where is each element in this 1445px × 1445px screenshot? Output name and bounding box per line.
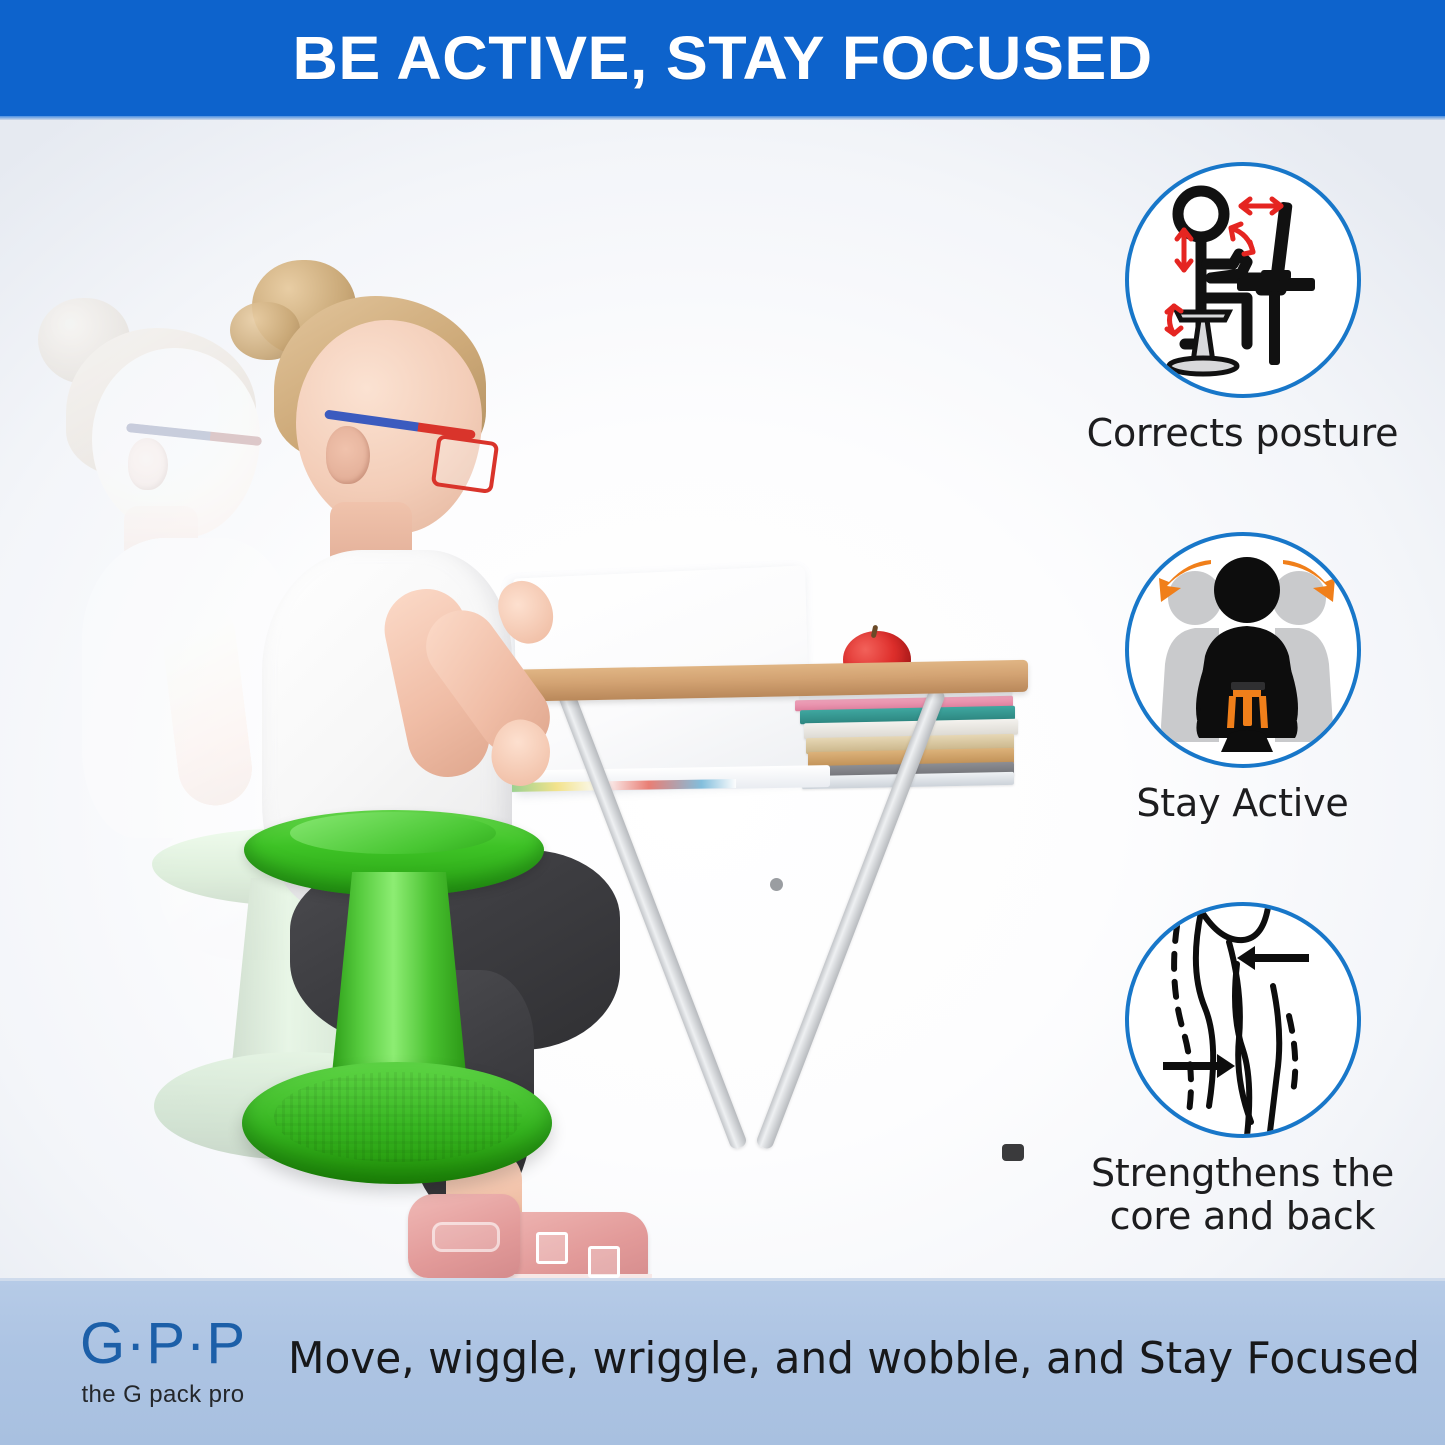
brand-logo: G·P·P the G pack pro xyxy=(48,1315,278,1409)
product-photo xyxy=(0,120,1060,1278)
infographic-page: BE ACTIVE, STAY FOCUSED xyxy=(0,0,1445,1445)
person-at-adjustable-desk-icon xyxy=(1125,162,1361,398)
spine-icon-svg xyxy=(1129,906,1361,1138)
desk-leg-pivot xyxy=(770,878,783,891)
feature-stay-active: Stay Active xyxy=(1040,532,1445,825)
feature-corrects-posture: Corrects posture xyxy=(1040,162,1445,455)
posture-icon-svg xyxy=(1129,166,1361,398)
feature-label-line: Corrects posture xyxy=(1040,412,1445,455)
stool-base-texture xyxy=(274,1072,522,1162)
footer-bar: G·P·P the G pack pro Move, wiggle, wrigg… xyxy=(0,1278,1445,1445)
desk-foot-cap-right xyxy=(1002,1144,1024,1161)
feature-label: Strengthens the core and back xyxy=(1040,1152,1445,1237)
feature-label-line: Strengthens the xyxy=(1040,1152,1445,1195)
logo-tagline: the G pack pro xyxy=(48,1381,278,1409)
logo-wordmark: G·P·P xyxy=(48,1315,278,1373)
header-banner: BE ACTIVE, STAY FOCUSED xyxy=(0,0,1445,116)
feature-strengthens-core-back: Strengthens the core and back xyxy=(1040,902,1445,1237)
feature-label: Stay Active xyxy=(1040,782,1445,825)
feature-label-line: Stay Active xyxy=(1040,782,1445,825)
green-wobble-stool xyxy=(238,810,558,1260)
feature-list: Corrects posture xyxy=(1040,120,1445,1278)
person-moving-side-to-side-icon xyxy=(1125,532,1361,768)
stool-seat-surface xyxy=(290,812,496,854)
ghost-ear xyxy=(128,438,168,490)
sandal-buckle xyxy=(588,1246,620,1278)
feature-label: Corrects posture xyxy=(1040,412,1445,455)
banner-title: BE ACTIVE, STAY FOCUSED xyxy=(292,23,1152,93)
feature-label-line: core and back xyxy=(1040,1195,1445,1238)
glasses-lens xyxy=(431,434,500,494)
spine-posture-curve-icon xyxy=(1125,902,1361,1138)
stay-active-icon-svg xyxy=(1129,536,1361,768)
footer-tagline: Move, wiggle, wriggle, and wobble, and S… xyxy=(288,1333,1373,1384)
ear xyxy=(326,426,370,484)
stool-column xyxy=(330,872,468,1094)
